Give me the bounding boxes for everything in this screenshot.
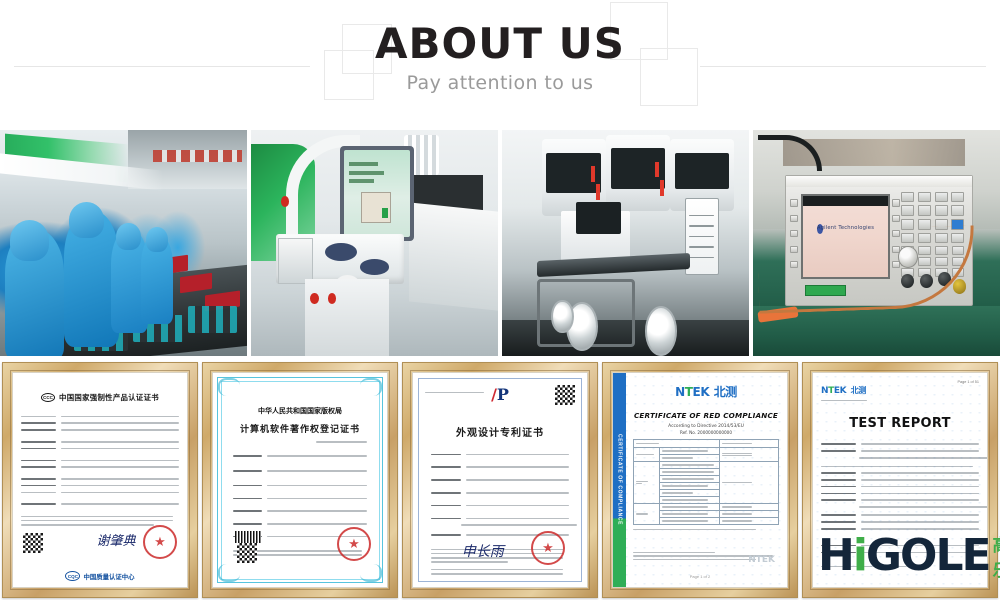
- doc-line: [21, 485, 56, 487]
- cqc-label: 中国质量认证中心: [83, 572, 134, 581]
- instrument-top-panel: [786, 176, 972, 186]
- doc-line: [21, 422, 56, 424]
- clipboard-line-5: [689, 257, 714, 259]
- doc-row: [21, 501, 179, 508]
- ccc-red-stamp: ★: [143, 525, 177, 559]
- table-footnote: [633, 529, 756, 530]
- doc-line: [61, 503, 179, 505]
- table-header-report: [722, 443, 752, 444]
- certificate-frame-test-report[interactable]: NTEK 北测 Page 1 of 51 TEST REPORT: [802, 362, 998, 598]
- table-header-row: [634, 440, 779, 448]
- doc-line: [267, 523, 367, 525]
- key: [918, 205, 931, 216]
- gantry-arm: [537, 253, 690, 277]
- doc-line: [61, 485, 179, 487]
- cqc-logo-icon: CQC: [65, 571, 80, 581]
- warning-label-4: [660, 180, 664, 196]
- certificate-mat: NTEK 北测 Page 1 of 51 TEST REPORT: [812, 372, 988, 588]
- doc-line: [267, 485, 367, 487]
- doc-line: [21, 460, 56, 462]
- design-patent-document: /P 外观设计专利证书: [413, 373, 587, 587]
- doc-line: [61, 429, 179, 431]
- doc-line: [21, 429, 56, 431]
- doc-row: [21, 489, 179, 496]
- doc-line: [21, 520, 173, 522]
- doc-line: [233, 523, 262, 525]
- doc-row: [233, 495, 367, 502]
- ntek-logo: NTEK: [675, 385, 709, 399]
- doc-line: [61, 422, 179, 424]
- certificate-frame-design-patent[interactable]: /P 外观设计专利证书: [402, 362, 598, 598]
- software-copyright-document: 中华人民共和国国家版权局 计算机软件著作权登记证书: [213, 373, 387, 587]
- standards-table: [633, 439, 779, 525]
- copyright-red-stamp: ★: [337, 527, 371, 561]
- doc-line: [21, 503, 56, 505]
- warning-label-1: [591, 166, 595, 182]
- photo-smt-pick-and-place[interactable]: [502, 130, 749, 356]
- crt-monitor: [340, 146, 414, 241]
- emergency-stop-button: [281, 196, 290, 207]
- cqc-mark: CQC 中国质量认证中心: [21, 571, 179, 581]
- ntek-logo-cn: 北测: [714, 385, 737, 399]
- doc-line: [21, 478, 56, 480]
- document-watermark: [813, 373, 987, 587]
- red-compliance-page: Page 1 of 2: [690, 574, 710, 579]
- doc-row: [21, 464, 179, 471]
- copyright-barcode: [235, 531, 261, 543]
- screen-line-3: [349, 179, 374, 183]
- viewing-window-3: [675, 153, 729, 189]
- doc-line: [21, 492, 56, 494]
- certificate-mat: /P 外观设计专利证书: [412, 372, 588, 588]
- doc-row: [21, 445, 179, 452]
- copyright-title: 计算机软件著作权登记证书: [233, 422, 367, 435]
- softkey-left-2: [790, 215, 798, 222]
- photo-aoi-inspection-machine[interactable]: [251, 130, 498, 356]
- worker-cap-1: [10, 220, 50, 261]
- doc-line: [61, 460, 179, 462]
- clipboard-line-1: [689, 215, 714, 217]
- doc-line: [61, 478, 179, 480]
- ccc-header: CCC 中国国家强制性产品认证证书: [21, 392, 179, 403]
- copyright-authority: 中华人民共和国国家版权局: [233, 406, 367, 416]
- component-bin: [576, 202, 620, 234]
- ornate-corner-bottom-left: [218, 564, 240, 582]
- machine-badge-2: [360, 259, 390, 275]
- key: [935, 205, 948, 216]
- ccc-footer: CQC 中国质量认证中心: [21, 568, 179, 581]
- display-status-bar: [803, 196, 888, 206]
- doc-line: [267, 455, 367, 457]
- compliance-side-band: CERTIFICATE OF COMPLIANCE: [613, 373, 626, 587]
- ornate-corner-top-right: [360, 378, 382, 396]
- ntek-logo-accent: T: [685, 385, 693, 399]
- doc-row: [233, 508, 367, 515]
- ntek-footer-brand: NTEK: [748, 555, 775, 565]
- doc-row: [233, 482, 367, 489]
- doc-line: [267, 470, 367, 472]
- doc-line: [21, 448, 56, 450]
- doc-row: [21, 427, 179, 434]
- worker-cap-4: [146, 227, 168, 252]
- patent-logo-letter: P: [497, 385, 509, 404]
- doc-line: [233, 470, 262, 472]
- ccc-title: 中国国家强制性产品认证证书: [59, 392, 159, 403]
- page-header: ABOUT US Pay attention to us: [0, 0, 1000, 128]
- ccc-certificate-document: CCC 中国国家强制性产品认证证书: [13, 373, 187, 587]
- key: [901, 205, 914, 216]
- key: [951, 205, 964, 216]
- key: [918, 192, 931, 203]
- header-text-block: ABOUT US Pay attention to us: [0, 0, 1000, 94]
- doc-line: [233, 485, 262, 487]
- doc-row: [21, 457, 179, 464]
- doc-line: [61, 466, 179, 468]
- copyright-qr-code: [237, 543, 257, 563]
- photo-assembly-line[interactable]: [0, 130, 247, 356]
- doc-line: [267, 498, 367, 500]
- doc-line: [61, 492, 179, 494]
- clipboard-line-3: [689, 236, 714, 238]
- page-subtitle: Pay attention to us: [0, 72, 1000, 94]
- table-row: [634, 504, 779, 511]
- monitor-screen: [344, 150, 410, 237]
- doc-row: [21, 438, 179, 445]
- ccc-qr-code: [23, 533, 43, 553]
- worker-cap-2: [69, 202, 104, 238]
- doc-row: [21, 413, 179, 420]
- softkey-right-1: [892, 199, 900, 206]
- clipboard-line-4: [689, 246, 714, 248]
- certificate-mat: 中华人民共和国国家版权局 计算机软件著作权登记证书: [212, 372, 388, 588]
- doc-row: [233, 467, 367, 474]
- red-knob-2: [328, 293, 337, 304]
- screen-line-1: [349, 162, 378, 166]
- doc-row: [21, 420, 179, 427]
- warning-label-3: [655, 162, 659, 178]
- certificate-frame-software-copyright[interactable]: 中华人民共和国国家版权局 计算机软件著作权登记证书: [202, 362, 398, 598]
- table-row: [634, 448, 779, 455]
- doc-line: [267, 510, 367, 512]
- clipboard-line-2: [689, 225, 714, 227]
- certificate-mat: CCC 中国国家强制性产品认证证书: [12, 372, 188, 588]
- patent-number-line: [425, 392, 484, 394]
- doc-row: [233, 521, 367, 528]
- component-reel-3: [551, 300, 573, 334]
- patent-qr-code: [555, 385, 575, 405]
- red-compliance-document: CERTIFICATE OF COMPLIANCE NTEK 北测 CERTIF…: [613, 373, 787, 587]
- ccc-signature: 谢肇典: [97, 530, 136, 549]
- page-title: ABOUT US: [0, 22, 1000, 66]
- doc-line: [21, 441, 56, 443]
- red-compliance-subtitle: According to Directive 2014/53/EU: [633, 424, 779, 429]
- doc-line: [21, 516, 173, 518]
- doc-line: [21, 416, 56, 418]
- doc-line: [61, 416, 179, 418]
- softkey-left-1: [790, 199, 798, 206]
- ntek-brand-block: NTEK 北测: [633, 383, 779, 401]
- about-us-page: ABOUT US Pay attention to us: [0, 0, 1000, 600]
- softkey-right-2: [892, 215, 900, 222]
- worker-cap-3: [116, 223, 141, 250]
- patent-signature: 申长雨: [462, 541, 504, 561]
- table-header-standards: [636, 443, 659, 444]
- photo-agilent-test-instrument[interactable]: Agilent Technologies: [753, 130, 1000, 356]
- red-knob-1: [310, 293, 319, 304]
- certificate-frame-red-compliance[interactable]: CERTIFICATE OF COMPLIANCE NTEK 北测 CERTIF…: [602, 362, 798, 598]
- certificate-frame-ccc[interactable]: CCC 中国国家强制性产品认证证书: [2, 362, 198, 598]
- ccc-seal-icon: CCC: [41, 393, 55, 402]
- key: [935, 192, 948, 203]
- conveyor-rig: [409, 202, 498, 311]
- patent-office-logo-icon: /P: [491, 385, 509, 404]
- key: [901, 192, 914, 203]
- facility-photo-gallery: Agilent Technologies: [0, 130, 1000, 356]
- doc-line: [233, 455, 262, 457]
- certificate-mat: CERTIFICATE OF COMPLIANCE NTEK 北测 CERTIF…: [612, 372, 788, 588]
- warning-label-2: [596, 184, 600, 200]
- red-compliance-title: CERTIFICATE OF RED COMPLIANCE: [633, 411, 779, 420]
- doc-line: [316, 441, 367, 443]
- screen-line-2: [349, 171, 383, 175]
- screen-window: [361, 192, 391, 223]
- patent-red-stamp: ★: [531, 531, 565, 565]
- doc-line: [61, 441, 179, 443]
- ornate-corner-top-left: [218, 378, 240, 396]
- doc-row: [233, 453, 367, 460]
- screen-green-indicator: [382, 208, 388, 218]
- doc-line: [61, 448, 179, 450]
- doc-line: [21, 524, 154, 526]
- control-pc: [278, 238, 313, 283]
- certificate-gallery: CCC 中国国家强制性产品认证证书: [0, 360, 1000, 600]
- doc-line: [233, 510, 262, 512]
- test-report-document: NTEK 北测 Page 1 of 51 TEST REPORT: [813, 373, 987, 587]
- table-row: [634, 462, 779, 469]
- doc-line: [21, 466, 56, 468]
- ornate-corner-bottom-right: [360, 564, 382, 582]
- doc-row: [21, 475, 179, 482]
- red-compliance-ref: Ref. No. 2000000000000: [633, 430, 779, 435]
- ceiling-red-strip: [153, 150, 242, 161]
- ccc-body-lines: [21, 413, 179, 526]
- rf-connector-4: [953, 279, 966, 293]
- key: [951, 192, 964, 203]
- doc-row: [21, 482, 179, 489]
- doc-line: [233, 498, 262, 500]
- machine-column: [305, 279, 389, 356]
- pcb-tray-3: [188, 306, 237, 333]
